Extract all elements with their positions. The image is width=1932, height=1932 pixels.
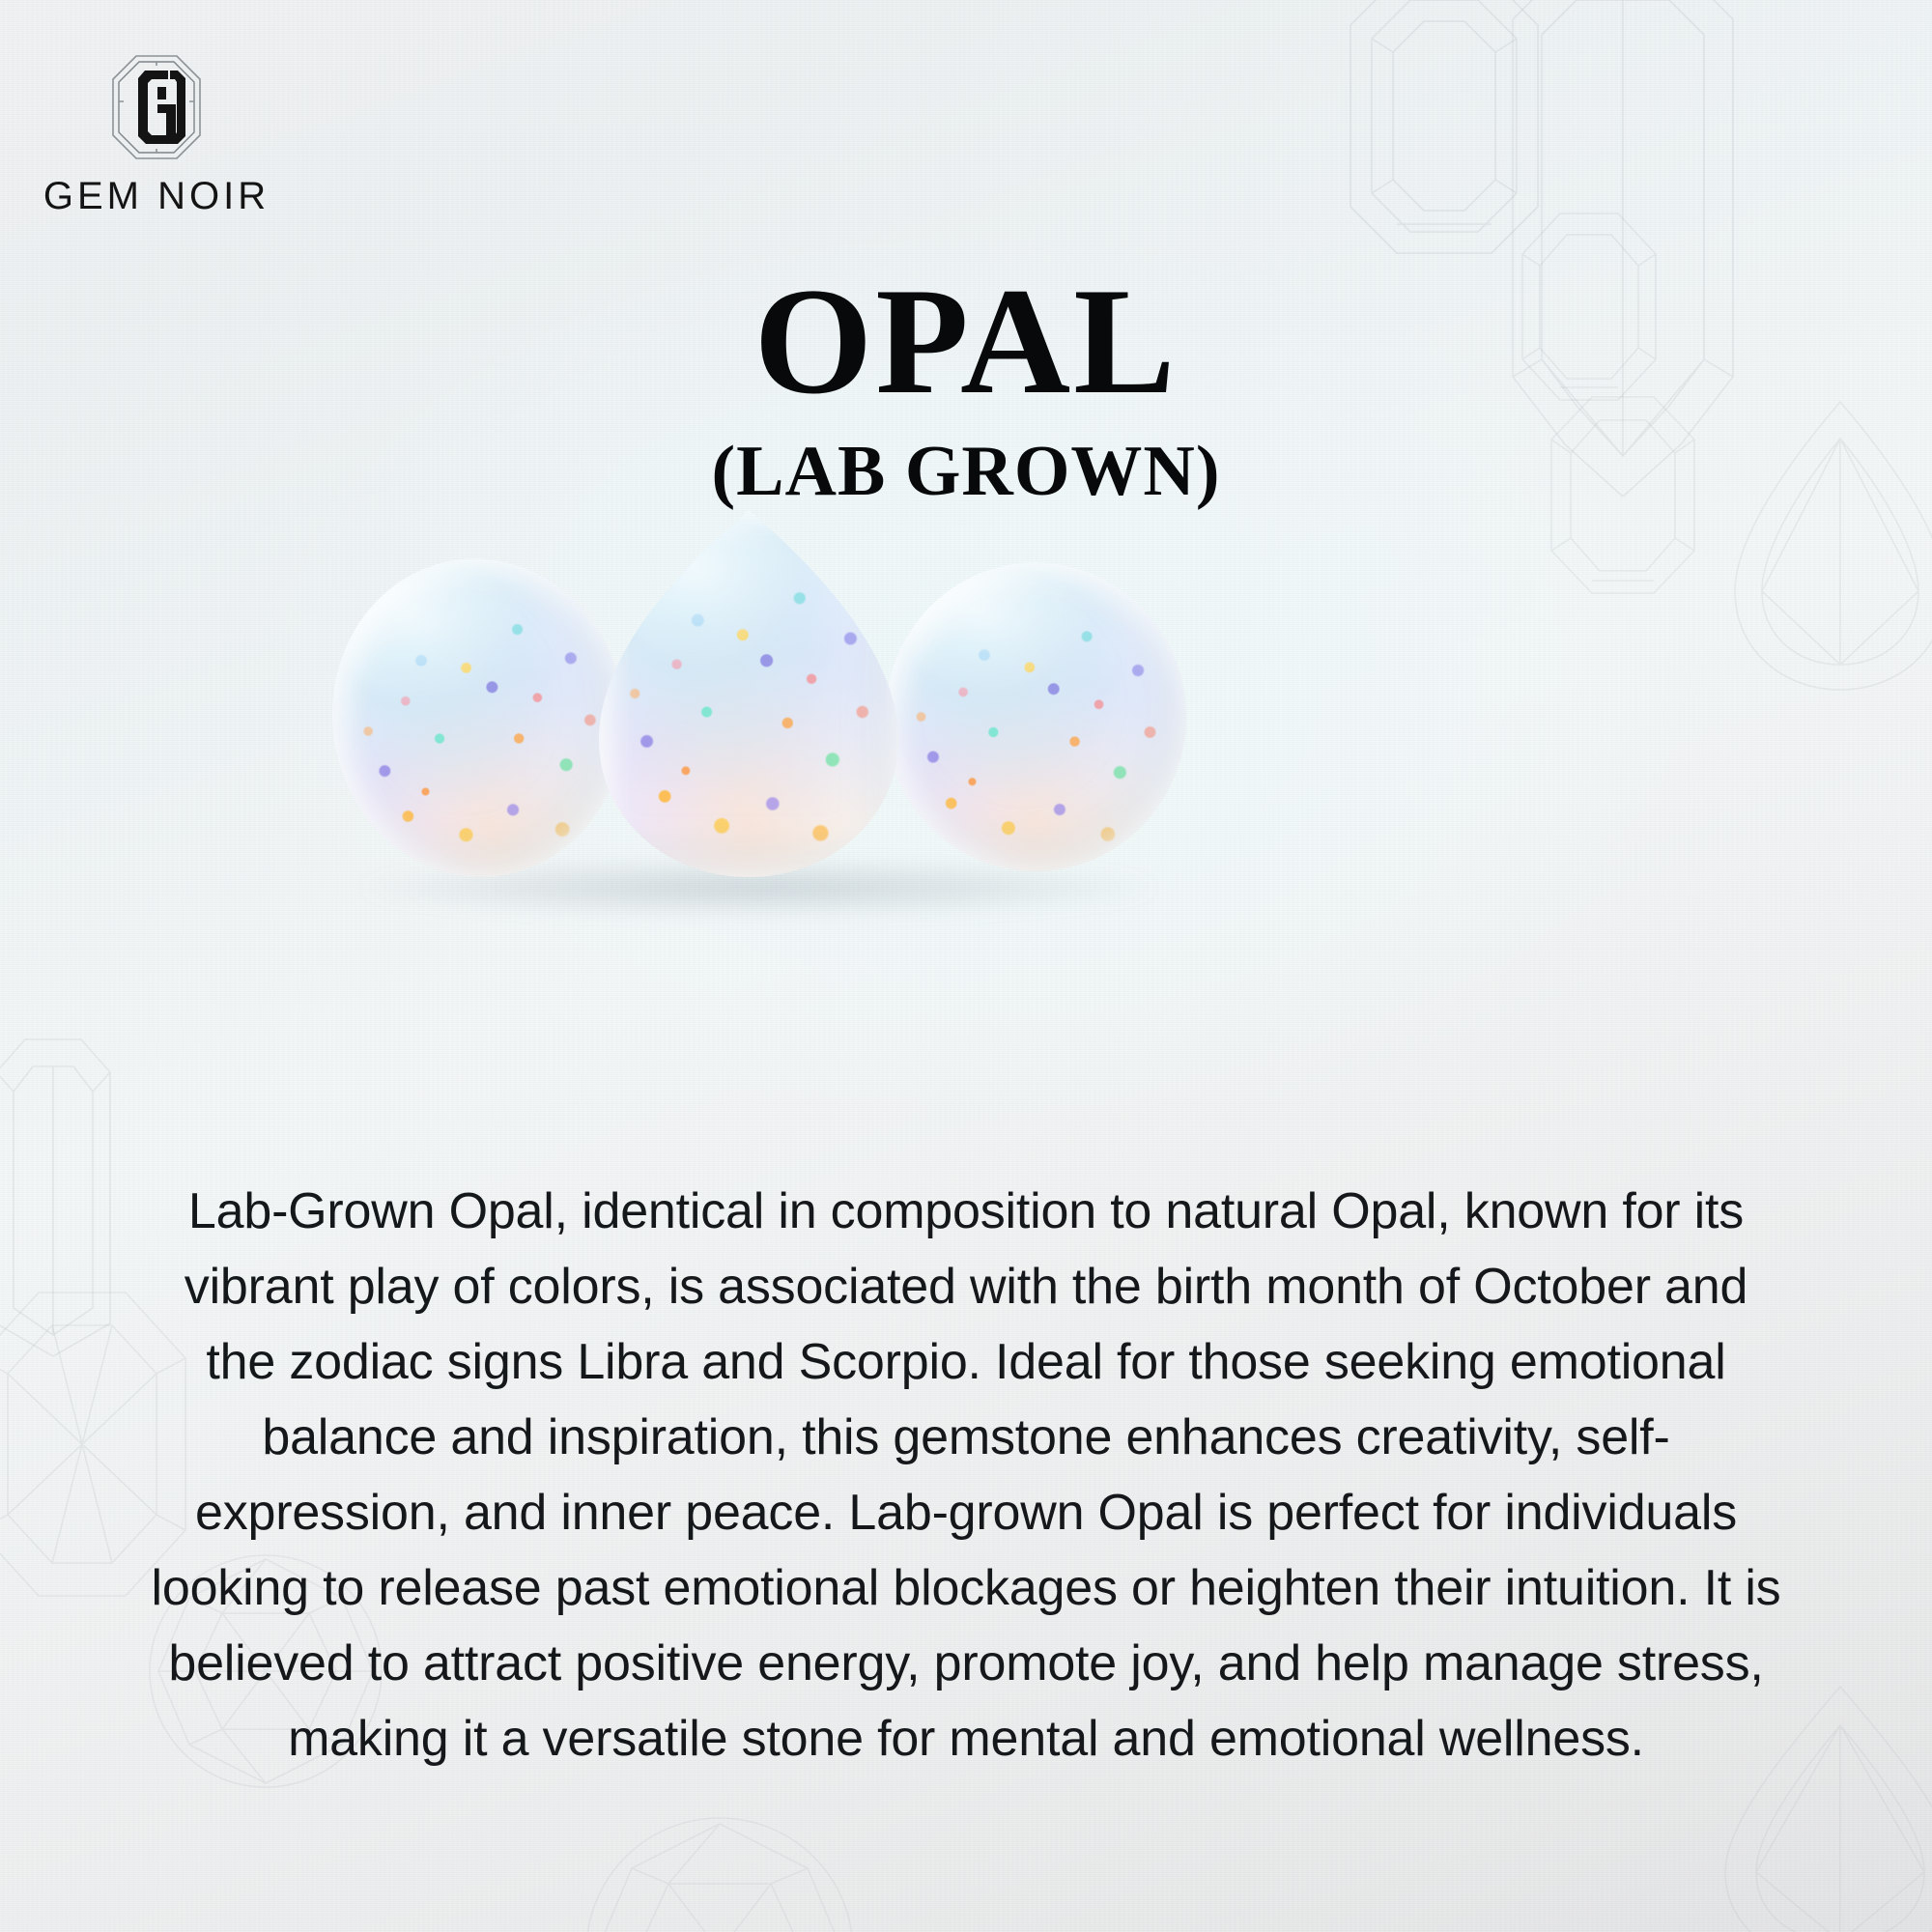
opal-oval-cabochon-icon — [314, 542, 642, 894]
round-brilliant-gem-outline-icon-center — [580, 1806, 860, 1932]
baguette-cut-gem-outline-icon-bottom — [0, 1034, 116, 1362]
emerald-cut-gem-outline-icon — [1343, 0, 1546, 261]
brand-lockup[interactable]: GEM NOIR — [31, 53, 282, 218]
opal-round-cabochon-icon — [885, 562, 1186, 871]
page-subtitle: (LAB GROWN) — [0, 436, 1932, 507]
poster-canvas: GEM NOIR OPAL (LAB GROWN) Lab-Grown Opal… — [0, 0, 1932, 1932]
octagon-gn-monogram-icon — [110, 53, 203, 161]
page-title: OPAL — [0, 266, 1932, 418]
opal-pear-cabochon-icon — [599, 510, 898, 877]
heading-block: OPAL (LAB GROWN) — [0, 266, 1932, 507]
gemstone-cluster — [319, 502, 1207, 908]
description-paragraph: Lab-Grown Opal, identical in composition… — [145, 1174, 1787, 1776]
brand-name-label: GEM NOIR — [43, 175, 270, 218]
